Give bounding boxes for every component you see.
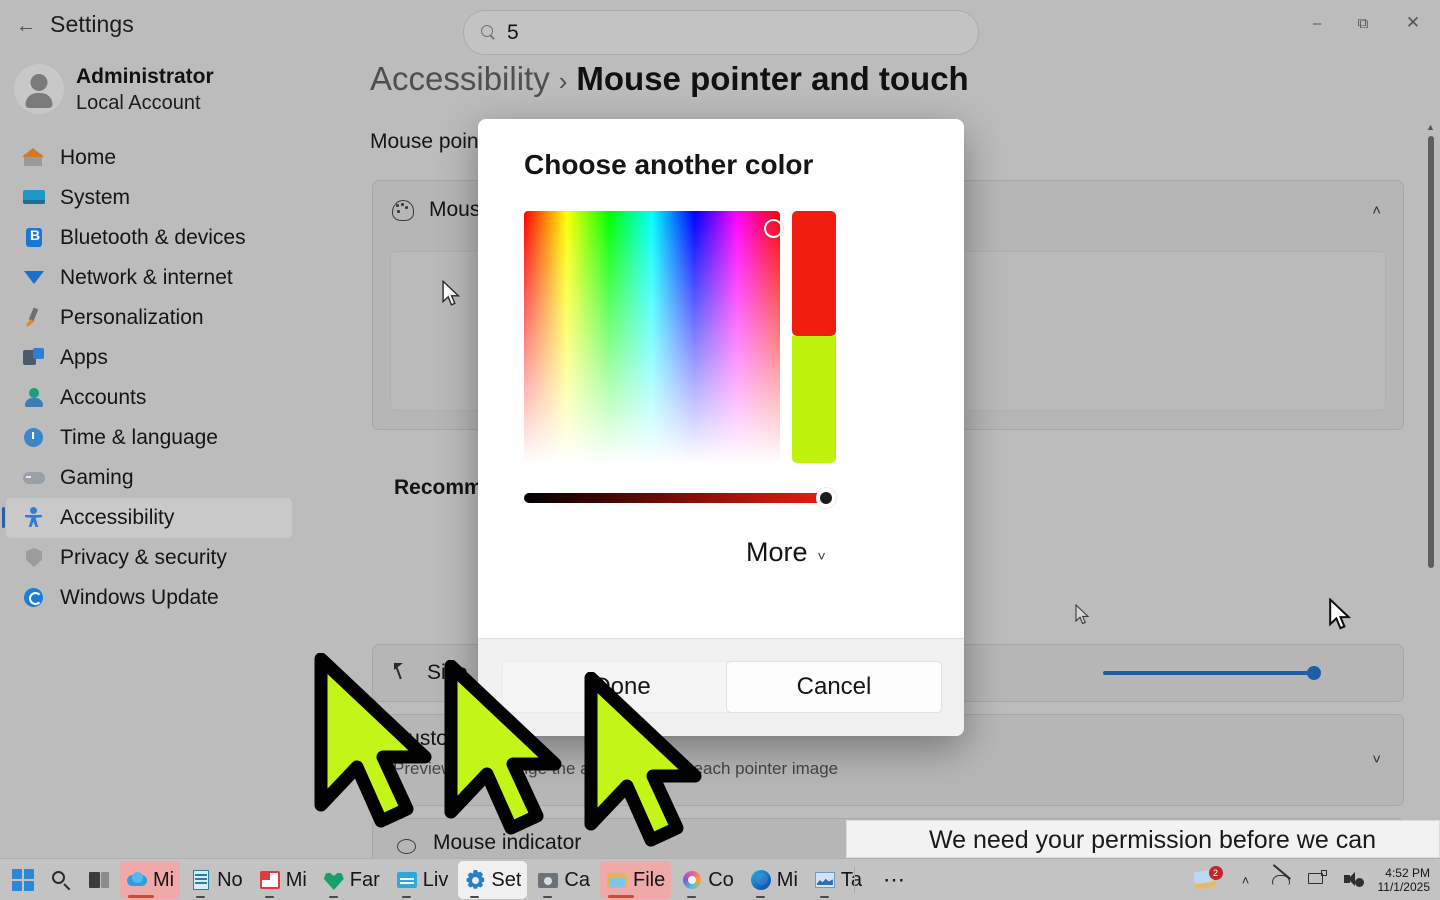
taskbar-label: File (633, 869, 665, 892)
sidebar-item-accounts[interactable]: Accounts (6, 378, 292, 418)
sidebar-item-label: Home (60, 146, 116, 170)
cursor-preview-icon (441, 280, 463, 308)
title-bar: ← Settings 5 – ⧉ ✕ (0, 0, 1440, 58)
running-indicator (265, 896, 274, 899)
more-button[interactable]: More ˅ (746, 537, 826, 568)
small-cursor-left-icon (1075, 604, 1091, 626)
current-color-preview (792, 211, 836, 336)
edge-icon (750, 869, 772, 891)
taskbar-onedrive[interactable]: Mi (120, 861, 180, 899)
size-slider-thumb[interactable] (1307, 666, 1321, 680)
running-indicator (820, 896, 829, 899)
start-button[interactable] (6, 861, 40, 899)
sidebar-item-label: Accessibility (60, 506, 174, 530)
taskbar-label: Co (708, 869, 734, 892)
clock-date: 11/1/2025 (1378, 880, 1431, 894)
more-label: More (746, 537, 808, 568)
sidebar-item-system[interactable]: System (6, 178, 292, 218)
taskbar-label: Mi (286, 869, 307, 892)
taskbar-edge[interactable]: Mi (744, 861, 804, 899)
running-indicator (543, 896, 552, 899)
sidebar-item-network[interactable]: Network & internet (6, 258, 292, 298)
ellipsis-icon: ⋯ (883, 867, 905, 893)
running-indicator (196, 896, 205, 899)
sidebar-item-gaming[interactable]: Gaming (6, 458, 292, 498)
window-controls: – ⧉ ✕ (1294, 0, 1440, 46)
palette-icon (391, 199, 413, 221)
chevron-down-icon: ˅ (818, 548, 826, 564)
gear-icon (464, 869, 486, 891)
scroll-up-arrow-icon[interactable]: ▲ (1426, 122, 1435, 132)
sidebar-item-home[interactable]: Home (6, 138, 292, 178)
size-slider[interactable] (1103, 671, 1315, 675)
custom-title: Custom (393, 727, 465, 751)
sidebar-item-apps[interactable]: Apps (6, 338, 292, 378)
clock-time: 4:52 PM (1378, 866, 1431, 880)
chevron-up-icon[interactable]: ˄ (1372, 202, 1381, 219)
home-icon (22, 147, 48, 169)
sidebar-nav: Home System Bluetooth & devices Network … (0, 138, 300, 618)
taskbar-settings[interactable]: Set (458, 861, 527, 899)
taskbar-label: Liv (423, 869, 449, 892)
breadcrumb: Accessibility›Mouse pointer and touch (370, 60, 969, 98)
running-indicator (608, 895, 634, 898)
taskbar: Mi No Mi (0, 858, 1440, 900)
minimize-button[interactable]: – (1294, 0, 1340, 46)
shield-icon (22, 547, 48, 569)
system-icon (22, 187, 48, 209)
heart-icon (323, 869, 345, 891)
network-icon (22, 267, 48, 289)
vertical-scrollbar[interactable]: ▲ (1425, 122, 1436, 682)
toast-text: We need your permission before we can (929, 826, 1376, 855)
sidebar-item-label: System (60, 186, 130, 210)
back-arrow-icon[interactable]: ← (12, 12, 40, 40)
taskbar-divider (854, 867, 855, 893)
sidebar-item-personalization[interactable]: Personalization (6, 298, 292, 338)
running-indicator (329, 896, 338, 899)
brightness-slider-thumb[interactable] (816, 488, 836, 508)
sidebar-item-label: Bluetooth & devices (60, 226, 246, 250)
color-selection-ring[interactable] (764, 219, 783, 238)
no-sound-icon[interactable] (1267, 865, 1297, 895)
taskbar-label: Mi (153, 869, 174, 892)
taskbar-notepad[interactable]: No (184, 861, 249, 899)
window-icon (396, 869, 418, 891)
taskbar-file-explorer[interactable]: File (600, 861, 671, 899)
chevron-down-icon[interactable]: ˅ (1372, 751, 1381, 768)
account-type: Local Account (76, 90, 214, 116)
accessibility-icon (22, 507, 48, 529)
search-icon (481, 25, 497, 41)
sidebar-item-label: Personalization (60, 306, 204, 330)
copilot-icon (681, 869, 703, 891)
sidebar-item-label: Gaming (60, 466, 134, 490)
sidebar-item-label: Privacy & security (60, 546, 227, 570)
accounts-icon (22, 387, 48, 409)
taskbar-label: Ta (841, 869, 862, 892)
scrollbar-thumb[interactable] (1428, 136, 1434, 568)
sidebar-item-label: Apps (60, 346, 108, 370)
chevron-up-icon[interactable]: ˄ (1231, 865, 1261, 895)
breadcrumb-parent[interactable]: Accessibility (370, 60, 550, 97)
camera-icon (537, 869, 559, 891)
sidebar: Administrator Local Account Home System … (0, 56, 300, 858)
taskbar-overflow[interactable]: ⋯ (872, 861, 911, 899)
sidebar-item-update[interactable]: Windows Update (6, 578, 292, 618)
dialog-footer: Done Cancel (478, 638, 964, 736)
network-icon[interactable] (1303, 865, 1333, 895)
taskbar-camera[interactable]: Ca (531, 861, 596, 899)
task-view-icon (88, 869, 110, 891)
taskbar-items: Mi No Mi (4, 859, 913, 900)
system-tray: 2 ˄ 4:52 PM 11/1/2025 (1188, 859, 1435, 900)
page-title: Mouse pointer and touch (576, 60, 968, 97)
running-indicator (756, 896, 765, 899)
taskbar-live-app[interactable]: Liv (390, 861, 455, 899)
sidebar-item-time[interactable]: Time & language (6, 418, 292, 458)
sidebar-item-accessibility[interactable]: Accessibility (6, 498, 292, 538)
bluetooth-icon (22, 227, 48, 249)
running-indicator (687, 896, 696, 899)
taskbar-label: Ca (564, 869, 590, 892)
screen: ← Settings 5 – ⧉ ✕ Administrator Local A… (0, 0, 1440, 900)
taskbar-label: No (217, 869, 243, 892)
search-input[interactable]: 5 (463, 10, 979, 55)
taskbar-copilot[interactable]: Co (675, 861, 740, 899)
brightness-slider[interactable] (524, 493, 830, 503)
task-view-button[interactable] (82, 861, 116, 899)
sidebar-item-label: Network & internet (60, 266, 233, 290)
taskbar-label: Set (491, 869, 521, 892)
sidebar-item-label: Accounts (60, 386, 146, 410)
windows-logo-icon (12, 869, 34, 891)
chart-icon (814, 869, 836, 891)
cloud-icon (126, 869, 148, 891)
previous-color-preview (792, 336, 836, 463)
size-label: Size (427, 661, 468, 685)
taskbar-label: Mi (777, 869, 798, 892)
search-value: 5 (507, 21, 519, 45)
taskbar-task-manager[interactable]: Ta (808, 861, 868, 899)
choose-color-dialog: Choose another color More ˅ Done Cancel (478, 119, 964, 736)
sidebar-item-privacy[interactable]: Privacy & security (6, 538, 292, 578)
folder-icon (606, 869, 628, 891)
gamepad-icon (22, 467, 48, 489)
done-button[interactable]: Done (502, 661, 742, 713)
taskbar-label: Far (350, 869, 380, 892)
color-spectrum-field[interactable] (524, 211, 780, 463)
size-slider-track (1103, 671, 1315, 675)
dialog-title: Choose another color (524, 149, 813, 181)
user-avatar-icon (14, 64, 64, 114)
apps-icon (22, 347, 48, 369)
mail-badge: 2 (1209, 866, 1223, 880)
running-indicator (128, 895, 154, 898)
taskbar-heart-app[interactable]: Far (317, 861, 386, 899)
personalization-icon (22, 307, 48, 329)
clock[interactable]: 4:52 PM 11/1/2025 (1378, 866, 1431, 894)
volume-muted-icon[interactable] (1339, 865, 1369, 895)
sidebar-item-bluetooth[interactable]: Bluetooth & devices (6, 218, 292, 258)
breadcrumb-separator: › (559, 66, 568, 96)
account-profile[interactable]: Administrator Local Account (0, 56, 300, 122)
small-cursor-right-icon (1328, 598, 1354, 632)
maximize-button[interactable]: ⧉ (1340, 0, 1386, 46)
running-indicator (402, 896, 411, 899)
clock-icon (22, 427, 48, 449)
cancel-button[interactable]: Cancel (726, 661, 942, 713)
account-name: Administrator (76, 63, 214, 90)
sidebar-item-label: Windows Update (60, 586, 219, 610)
search-button[interactable] (44, 861, 78, 899)
notification-toast[interactable]: We need your permission before we can (846, 820, 1440, 858)
store-icon (259, 869, 281, 891)
taskbar-store[interactable]: Mi (253, 861, 313, 899)
update-icon (22, 587, 48, 609)
sidebar-item-label: Time & language (60, 426, 218, 450)
touch-indicator-icon (395, 839, 417, 858)
cursor-icon (391, 662, 411, 684)
search-icon (50, 869, 72, 891)
mouse-indicator-title: Mouse indicator (433, 831, 581, 855)
custom-subtitle: Preview and change the appearance of eac… (393, 759, 838, 779)
running-indicator (470, 896, 479, 899)
mail-icon[interactable]: 2 (1191, 865, 1225, 895)
close-button[interactable]: ✕ (1386, 0, 1440, 46)
notepad-icon (190, 869, 212, 891)
app-title: Settings (50, 11, 134, 38)
